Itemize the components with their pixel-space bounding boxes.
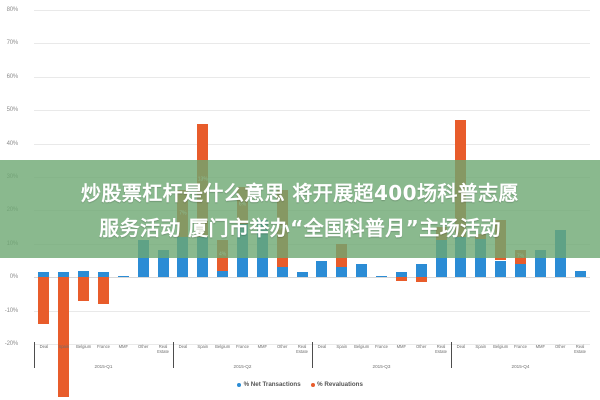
legend-swatch-blue-icon: [237, 383, 241, 387]
bar-segment[interactable]: [376, 276, 387, 278]
y-axis-tick-label: 80%: [0, 7, 18, 13]
bar-segment[interactable]: [416, 264, 427, 277]
bar-segment[interactable]: [78, 277, 89, 300]
chart-screenshot: 80%70%60%50%40%30%20%10%0%-10%-20% 7%13%…: [0, 0, 600, 400]
x-axis: DealSpainBelgiumFranceMMFOtherReal Estat…: [34, 344, 590, 378]
bar-segment[interactable]: [396, 277, 407, 280]
bar-segment[interactable]: [217, 271, 228, 278]
legend-label-revaluations: % Revaluations: [317, 381, 363, 388]
legend-item-net-transactions: % Net Transactions: [237, 381, 301, 388]
group-separator: [34, 342, 35, 368]
overlay-line-1: 炒股票杠杆是什么意思 将开展超400场科普志愿: [81, 177, 519, 206]
overlay-text-banner: 炒股票杠杆是什么意思 将开展超400场科普志愿 服务活动 厦门市举办“全国科普月…: [0, 160, 600, 258]
y-axis-tick-label: 0%: [0, 274, 18, 280]
group-separator: [451, 342, 452, 368]
y-axis-tick-label: 60%: [0, 74, 18, 80]
bar-segment[interactable]: [38, 277, 49, 324]
bar-segment[interactable]: [78, 271, 89, 278]
legend-swatch-orange-icon: [311, 383, 315, 387]
bar-segment[interactable]: [118, 276, 129, 278]
x-axis-group-label: 2015-Q2: [218, 364, 268, 369]
bar-segment[interactable]: [277, 267, 288, 277]
x-axis-group-label: 2015-Q3: [357, 364, 407, 369]
y-axis-tick-label: 50%: [0, 107, 18, 113]
y-axis-tick-label: 40%: [0, 141, 18, 147]
x-axis-group-label: 2015-Q1: [79, 364, 129, 369]
bar-segment[interactable]: [356, 264, 367, 277]
bar-segment[interactable]: [98, 277, 109, 304]
bar-segment[interactable]: [58, 277, 69, 397]
bar-segment[interactable]: [515, 264, 526, 277]
x-axis-tick-label: Real Estate: [567, 344, 593, 355]
y-axis-tick-label: 70%: [0, 40, 18, 46]
group-separator: [173, 342, 174, 368]
legend-item-revaluations: % Revaluations: [311, 381, 363, 388]
bar-segment[interactable]: [416, 277, 427, 282]
bar-segment[interactable]: [336, 267, 347, 277]
group-separator: [312, 342, 313, 368]
chart-legend: % Net Transactions % Revaluations: [0, 381, 600, 388]
bar-segment[interactable]: [297, 272, 308, 277]
y-axis-tick-label: -10%: [0, 308, 18, 314]
y-axis-tick-label: -20%: [0, 341, 18, 347]
overlay-line-2: 服务活动 厦门市举办“全国科普月”主场活动: [99, 212, 501, 241]
bar-segment[interactable]: [495, 261, 506, 278]
bar-segment[interactable]: [316, 261, 327, 278]
x-axis-group-label: 2015-Q4: [496, 364, 546, 369]
bar-segment[interactable]: [575, 271, 586, 278]
legend-label-net-transactions: % Net Transactions: [244, 381, 301, 388]
